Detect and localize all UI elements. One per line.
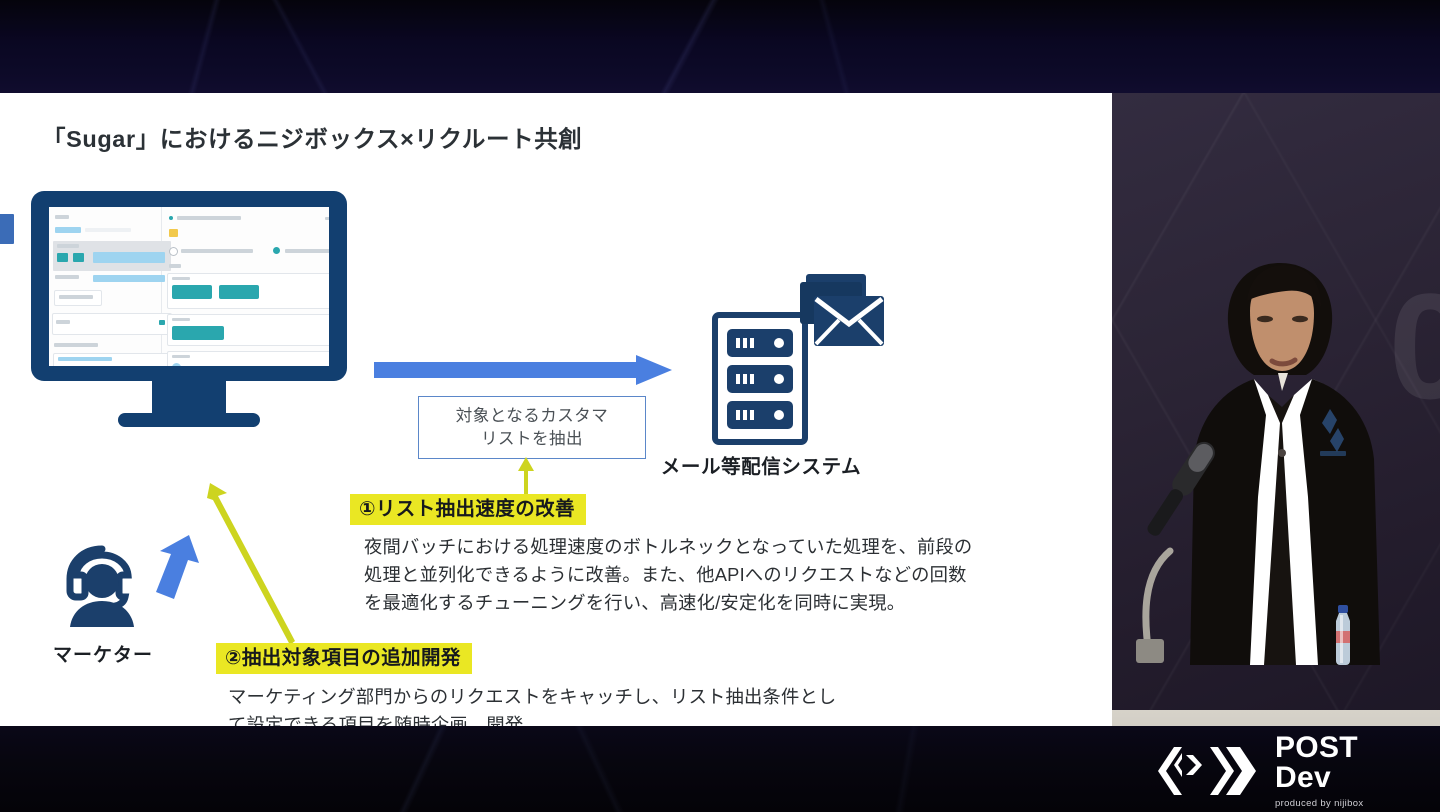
speaker-video-feed: 0 — [1112, 93, 1440, 726]
annotation-heading-2: ②抽出対象項目の追加開発 — [216, 643, 472, 674]
event-logo: POST Dev produced by nijibox — [1152, 742, 1422, 800]
title-accent-bar — [0, 214, 14, 244]
callout-line-1: 対象となるカスタマ — [456, 405, 609, 427]
extraction-callout-box: 対象となるカスタマ リストを抽出 — [418, 396, 646, 459]
mail-system-label: メール等配信システム — [650, 450, 872, 479]
marketer-label: マーケター — [41, 640, 165, 667]
microphone-icon — [1122, 433, 1242, 663]
event-tagline: produced by nijibox — [1275, 798, 1422, 809]
mockup-right-pane — [161, 207, 329, 366]
stream-background-top — [0, 0, 1440, 93]
screen-recording-frame: 「Sugar」におけるニジボックス×リクルート共創 — [0, 0, 1440, 812]
presentation-slide: 「Sugar」におけるニジボックス×リクルート共創 — [0, 93, 1112, 726]
event-name: POST Dev — [1275, 733, 1422, 793]
headset-person-icon — [52, 545, 152, 633]
arrow-right-icon — [374, 355, 672, 385]
annotation-body-1: 夜間バッチにおける処理速度のボトルネックとなっていた処理を、前段の 処理と並列化… — [364, 533, 1094, 616]
annotation-heading-1: ①リスト抽出速度の改善 — [350, 494, 586, 525]
monitor-screen-mockup — [49, 207, 329, 366]
page-title: 「Sugar」におけるニジボックス×リクルート共創 — [42, 120, 582, 154]
podium — [1112, 710, 1440, 726]
desktop-monitor-icon — [31, 191, 347, 381]
annotation-body-2: マーケティング部門からのリクエストをキャッチし、リスト抽出条件とし て設定できる… — [228, 683, 988, 726]
callout-line-2: リストを抽出 — [481, 428, 583, 450]
monitor-neck — [152, 381, 226, 416]
envelope-stack-icon — [792, 272, 888, 352]
water-bottle — [1330, 605, 1356, 667]
post-dev-mark-icon — [1152, 745, 1260, 797]
arrow-up-icon — [148, 533, 200, 603]
pointer-arrow-up-icon-2 — [205, 481, 295, 647]
pointer-arrow-up-icon-1 — [515, 455, 537, 497]
monitor-base — [118, 413, 260, 427]
mockup-left-pane — [49, 207, 162, 366]
